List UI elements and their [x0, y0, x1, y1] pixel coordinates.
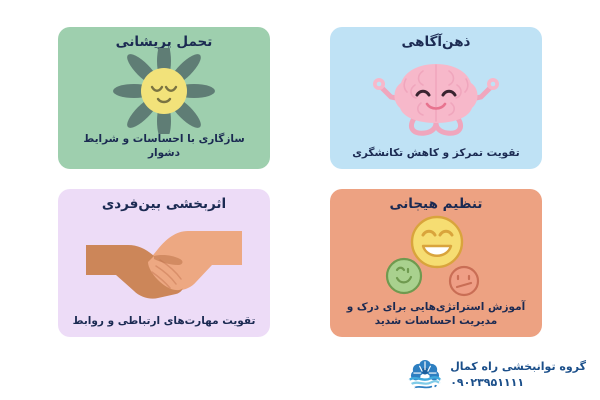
card-mindfulness[interactable]: ذهن‌آگاهی	[330, 27, 542, 169]
card-emotion-regulation-art	[340, 213, 532, 300]
card-mindfulness-title: ذهن‌آگاهی	[340, 34, 532, 51]
brain-wave-logo-icon	[408, 358, 442, 392]
card-distress-tolerance-art	[68, 51, 260, 132]
card-interpersonal-effectiveness-title: اثربخشی بین‌فردی	[68, 196, 260, 213]
dbt-skills-infographic: ذهن‌آگاهی	[0, 0, 600, 400]
meditating-brain-icon	[361, 55, 511, 141]
footer-branding: گروه توانبخشی راه کمال ۰۹۰۲۳۹۵۱۱۱۱	[408, 358, 586, 392]
calm-flower-icon	[109, 48, 219, 134]
card-interpersonal-effectiveness[interactable]: اثربخشی بین‌فردی	[58, 189, 270, 337]
contact-phone: ۰۹۰۲۳۹۵۱۱۱۱	[450, 375, 524, 392]
card-mindfulness-subtitle: تقویت تمرکز و کاهش تکانشگری	[340, 146, 532, 161]
card-mindfulness-art	[340, 51, 532, 146]
organization-name: گروه توانبخشی راه کمال	[450, 359, 586, 376]
card-emotion-regulation-title: تنظیم هیجانی	[340, 196, 532, 213]
card-distress-tolerance[interactable]: تحمل پریشانی	[58, 27, 270, 169]
card-emotion-regulation-subtitle: آموزش استراتژی‌هایی برای درک و مدیریت اح…	[340, 300, 532, 329]
emoji-faces-icon	[371, 214, 501, 298]
handshake-icon	[84, 223, 244, 303]
card-interpersonal-effectiveness-art	[68, 213, 260, 314]
card-distress-tolerance-subtitle: سازگاری با احساسات و شرایط دشوار	[68, 132, 260, 161]
card-interpersonal-effectiveness-subtitle: تقویت مهارت‌های ارتباطی و روابط	[68, 314, 260, 329]
footer-text-block: گروه توانبخشی راه کمال ۰۹۰۲۳۹۵۱۱۱۱	[450, 359, 586, 392]
card-emotion-regulation[interactable]: تنظیم هیجانی	[330, 189, 542, 337]
cards-grid: ذهن‌آگاهی	[58, 27, 542, 347]
